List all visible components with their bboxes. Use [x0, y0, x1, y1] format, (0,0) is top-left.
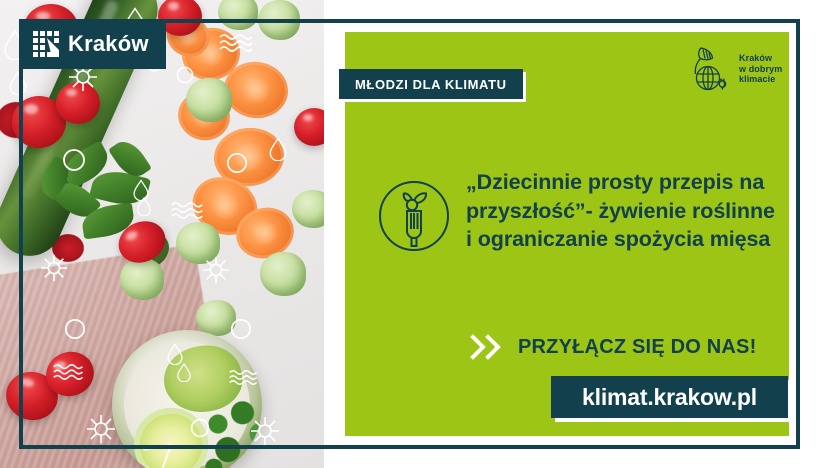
double-chevron-right-icon: [470, 334, 504, 360]
krakow-city-mark-icon: [33, 31, 59, 57]
poster-root: Kraków MŁODZI DLA KLIMATU Kraków w dobr: [0, 0, 819, 468]
headline-block: „Dziecinnie prosty przepis na przyszłość…: [378, 168, 778, 254]
cherry-tomato: [56, 82, 100, 124]
climate-program-logo[interactable]: Kraków w dobrym klimacie: [692, 44, 788, 94]
krakow-wordmark: Kraków: [68, 33, 149, 55]
brussels-sprout: [258, 0, 300, 40]
brussels-sprout: [186, 78, 232, 122]
brussels-sprout: [260, 252, 306, 296]
brussels-sprout: [120, 258, 164, 300]
cta-label: PRZYŁĄCZ SIĘ DO NAS!: [518, 336, 756, 359]
krakow-brand-bar[interactable]: Kraków: [19, 19, 166, 69]
salad-bowl: [112, 330, 262, 468]
fork-with-sprout-icon: [378, 180, 450, 252]
call-to-action[interactable]: PRZYŁĄCZ SIĘ DO NAS!: [470, 334, 756, 360]
vegetables-photo: [0, 0, 324, 468]
parsley-bunch: [204, 400, 262, 468]
climate-logo-text: Kraków w dobrym klimacie: [739, 53, 782, 84]
globe-plug-ginkgo-icon: [692, 46, 734, 92]
headline-text: „Dziecinnie prosty przepis na przyszłość…: [466, 168, 778, 254]
brussels-sprout: [176, 222, 220, 264]
campaign-badge: MŁODZI DLA KLIMATU: [339, 69, 523, 99]
website-url-button[interactable]: klimat.krakow.pl: [551, 376, 788, 418]
